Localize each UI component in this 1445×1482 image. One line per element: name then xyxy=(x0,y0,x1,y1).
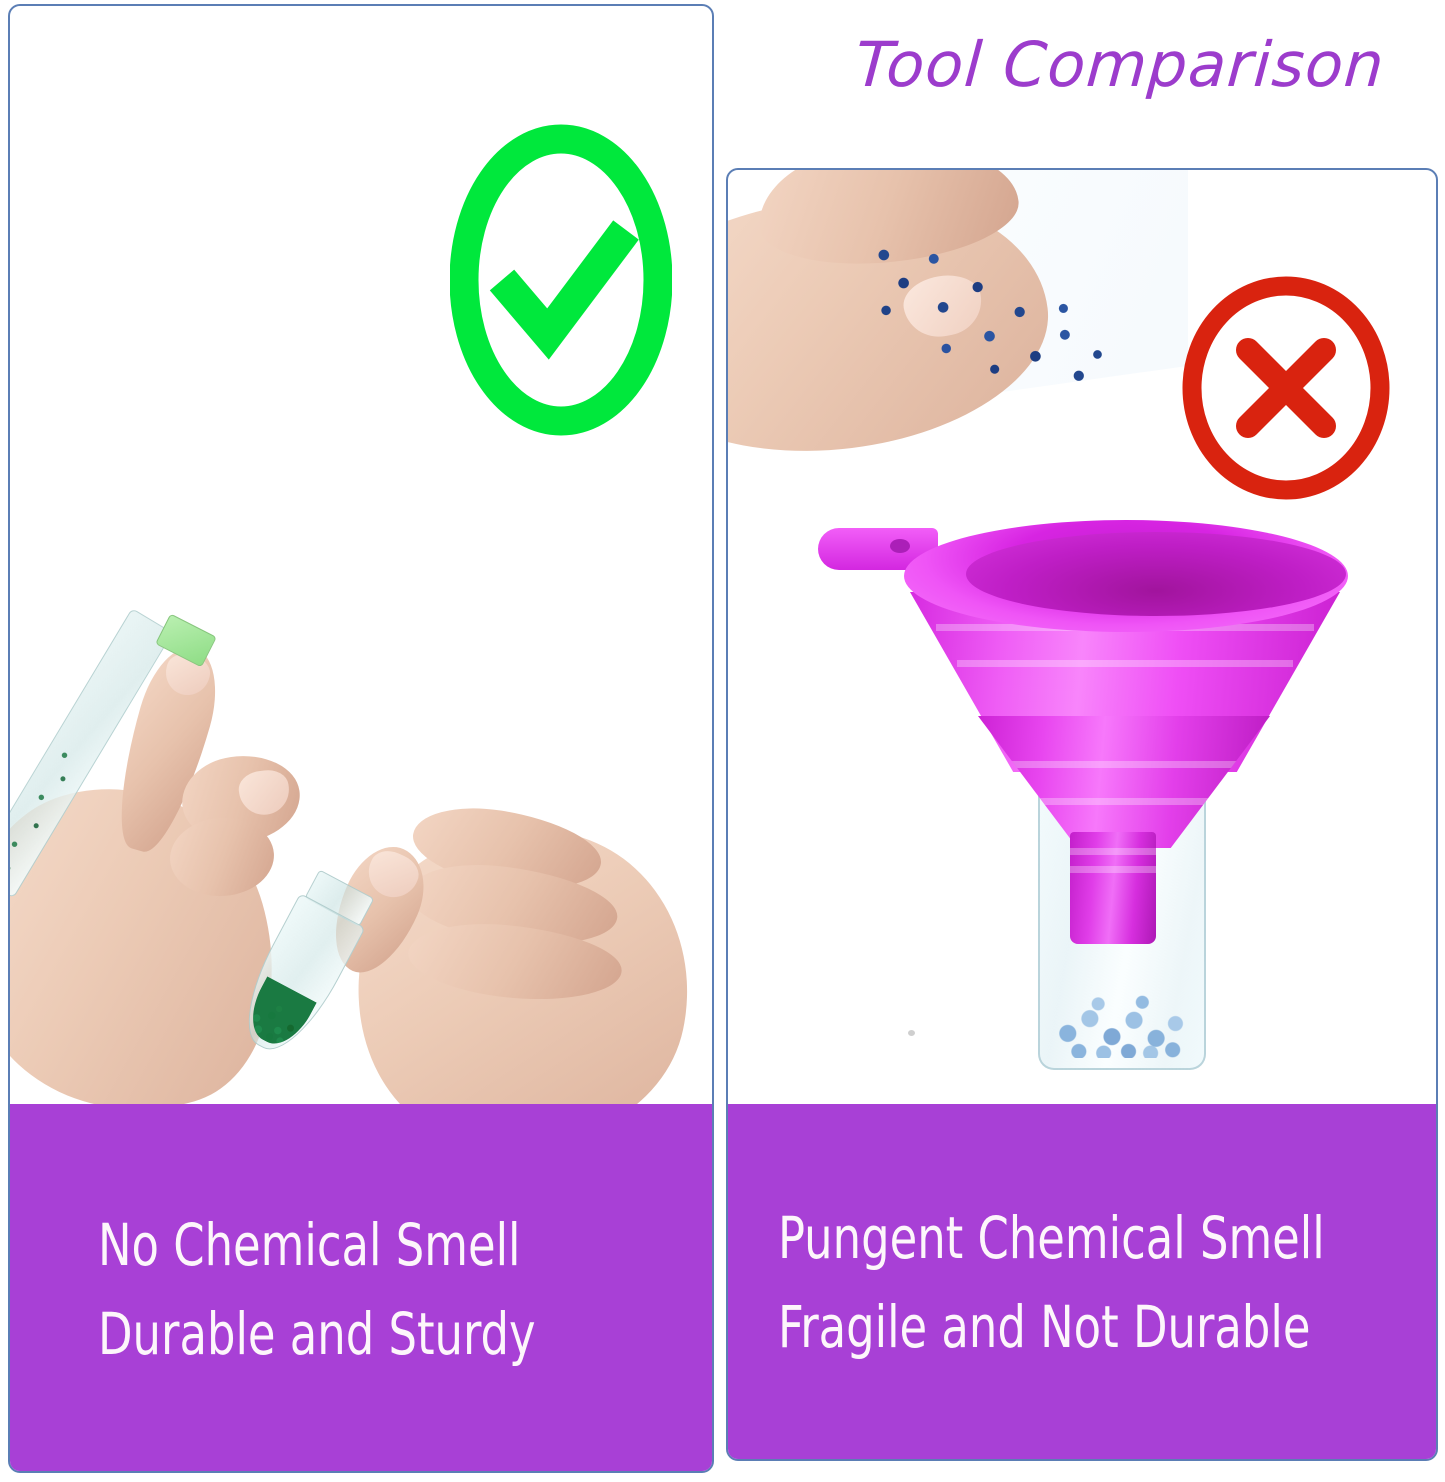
caption-line-2: Durable and Sturdy xyxy=(98,1290,629,1378)
funnel-ridge-4 xyxy=(1019,798,1229,805)
funnel-lower-cone xyxy=(978,716,1270,848)
dust-speck xyxy=(908,1030,915,1036)
product-photo-recommended xyxy=(10,596,714,1108)
caption-line-2: Fragile and Not Durable xyxy=(778,1283,1344,1371)
check-circle-icon xyxy=(450,122,672,438)
collapsible-silicone-funnel xyxy=(874,520,1348,940)
comparison-infographic: Tool Comparison xyxy=(0,0,1445,1482)
funnel-rim xyxy=(904,520,1348,632)
index-nail xyxy=(237,767,293,818)
cross-circle-icon xyxy=(1178,272,1394,504)
blue-beads-in-bottle xyxy=(1054,976,1192,1058)
caption-recommended: No Chemical Smell Durable and Sturdy xyxy=(10,1104,714,1473)
green-beads-in-bottle xyxy=(240,976,317,1054)
funnel-spout xyxy=(1070,832,1156,944)
funnel-ridge-2 xyxy=(957,660,1292,667)
page-title: Tool Comparison xyxy=(817,28,1422,101)
funnel-spout-ridge-1 xyxy=(1070,848,1156,855)
funnel-ridge-3 xyxy=(1001,761,1246,768)
product-photo-bead-bag xyxy=(728,170,1188,470)
caption-line-1: Pungent Chemical Smell xyxy=(778,1194,1344,1282)
funnel-spout-ridge-2 xyxy=(1070,866,1156,873)
caption-line-1: No Chemical Smell xyxy=(98,1201,629,1289)
funnel-rim-interior xyxy=(966,532,1346,616)
caption-not-recommended: Pungent Chemical Smell Fragile and Not D… xyxy=(728,1104,1436,1461)
